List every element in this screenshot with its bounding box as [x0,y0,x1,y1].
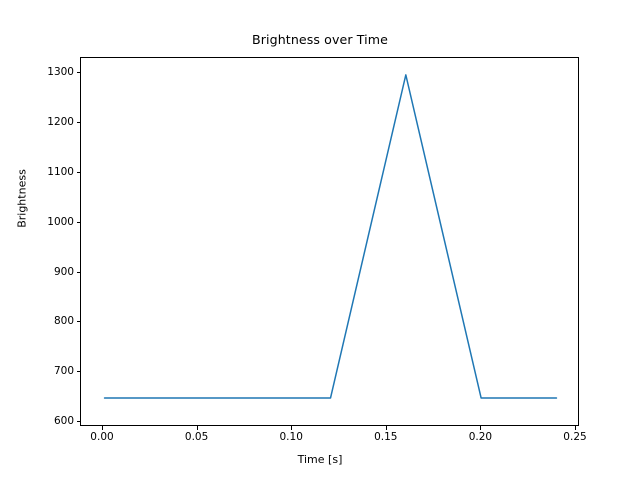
xtick-mark-3 [386,426,387,430]
brightness-line-series [105,75,557,398]
xtick-label-3: 0.15 [374,431,397,443]
ytick-mark-1000 [77,222,81,223]
ytick-label-900: 900 [14,266,74,278]
ytick-label-1300: 1300 [14,66,74,78]
xtick-mark-4 [480,426,481,430]
ytick-mark-1200 [77,122,81,123]
plot-line-svg [81,58,580,427]
figure-canvas: Brightness over Time 0.00 0.05 0.10 0.15… [0,0,640,480]
xtick-mark-0 [102,426,103,430]
ytick-mark-800 [77,321,81,322]
xtick-label-4: 0.20 [469,431,492,443]
ytick-label-600: 600 [14,415,74,427]
xtick-label-5: 0.25 [563,431,586,443]
ytick-mark-600 [77,421,81,422]
ytick-mark-1300 [77,72,81,73]
chart-title: Brightness over Time [0,32,640,47]
plot-axes [80,57,579,426]
xtick-mark-2 [291,426,292,430]
xtick-label-1: 0.05 [185,431,208,443]
xtick-mark-5 [575,426,576,430]
ytick-mark-900 [77,272,81,273]
ytick-label-700: 700 [14,365,74,377]
xtick-label-2: 0.10 [279,431,302,443]
ytick-mark-700 [77,371,81,372]
xtick-label-0: 0.00 [90,431,113,443]
xtick-mark-1 [197,426,198,430]
ytick-label-1200: 1200 [14,116,74,128]
x-axis-label: Time [s] [0,453,640,466]
ytick-label-800: 800 [14,315,74,327]
y-axis-label: Brightness [16,144,29,254]
ytick-mark-1100 [77,172,81,173]
